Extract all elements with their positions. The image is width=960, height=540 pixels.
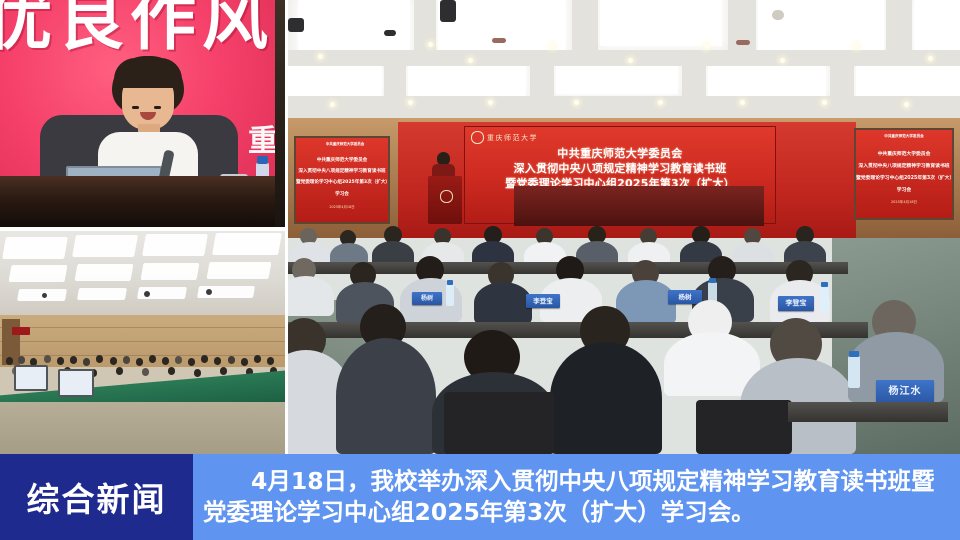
side-left-line4: 学习会 xyxy=(335,192,349,197)
photo-wide-auditorium xyxy=(0,231,285,454)
university-logo-text: 重庆师范大学 xyxy=(487,133,538,143)
university-logo: 重庆师范大学 xyxy=(471,131,538,144)
side-wall-strip xyxy=(275,0,285,227)
desk-row-near xyxy=(788,402,948,422)
side-screen-left: 中共重庆师范大学委员会 中共重庆师范大学委员会 深入贯彻中央八项规定精神学习教育… xyxy=(294,136,390,224)
caption-bar: 综合新闻 4月18日，我校举办深入贯彻中央八项规定精神学习教育读书班暨党委理论学… xyxy=(0,454,960,540)
side-right-line4: 学习会 xyxy=(897,188,911,193)
desk-nameplate: 杨树 xyxy=(668,290,702,304)
hall-floor xyxy=(0,402,285,454)
photo-seam-horizontal xyxy=(0,227,285,231)
desk-monitor xyxy=(58,369,94,397)
podium-emblem-icon xyxy=(440,190,453,203)
category-tag: 综合新闻 xyxy=(0,454,193,540)
speaker-eye-left xyxy=(132,106,139,109)
desk-nameplate: 李登宝 xyxy=(526,294,560,308)
side-left-line3: 暨党委理论学习中心组2025年第3次（扩大） xyxy=(296,180,390,185)
photo-speaker-at-podium: 优良作风 重 xyxy=(0,0,285,227)
photo-seam-vertical xyxy=(285,0,288,454)
side-left-line2: 深入贯彻中央八项规定精神学习教育读书班 xyxy=(298,169,385,174)
desk-nameplate: 李登宝 xyxy=(778,296,814,311)
water-bottle xyxy=(820,286,829,312)
water-bottle xyxy=(848,356,860,388)
water-bottle-cap xyxy=(257,156,268,164)
speaker-fringe xyxy=(114,58,182,88)
side-left-date: 2025年4月18日 xyxy=(329,205,354,209)
photo-main-conference-hall: 重庆师范大学 中共重庆师范大学委员会 深入贯彻中央八项规定精神学习教育读书班 暨… xyxy=(288,0,960,454)
hall-ceiling xyxy=(0,231,285,317)
exit-sign xyxy=(12,327,30,335)
ceiling-camera xyxy=(288,18,304,32)
side-left-logo: 中共重庆师范大学委员会 xyxy=(326,142,365,146)
speaker-figure xyxy=(104,56,192,176)
side-left-line1: 中共重庆师范大学委员会 xyxy=(317,158,368,163)
ceiling-vent xyxy=(736,40,750,45)
water-bottle-cap xyxy=(849,351,859,357)
desk-monitor xyxy=(14,365,48,391)
caption-body: 4月18日，我校举办深入贯彻中央八项规定精神学习教育读书班暨党委理论学习中心组2… xyxy=(193,454,960,540)
water-bottle xyxy=(446,284,454,306)
water-bottle-cap xyxy=(709,278,716,283)
chair-back xyxy=(444,392,554,454)
screen-line-1: 中共重庆师范大学委员会 xyxy=(465,145,775,161)
ceiling-camera xyxy=(440,0,456,22)
backdrop-headline: 优良作风 xyxy=(0,0,274,52)
main-ceiling xyxy=(288,0,960,122)
side-right-logo: 中共重庆师范大学委员会 xyxy=(884,134,924,138)
desk-nameplate: 杨江水 xyxy=(876,380,934,404)
caption-text: 4月18日，我校举办深入贯彻中央八项规定精神学习教育读书班暨党委理论学习中心组2… xyxy=(193,466,960,528)
desk-nameplate: 杨树 xyxy=(412,292,442,305)
category-tag-label: 综合新闻 xyxy=(27,473,167,521)
university-emblem-icon xyxy=(471,131,484,144)
side-screen-right: 中共重庆师范大学委员会 中共重庆师范大学委员会 深入贯彻中央八项规定精神学习教育… xyxy=(854,128,954,220)
news-photo-card: 优良作风 重 xyxy=(0,0,960,540)
water-bottle-cap xyxy=(821,282,828,287)
photo-collage: 优良作风 重 xyxy=(0,0,960,454)
side-right-line3: 暨党委理论学习中心组2025年第3次（扩大） xyxy=(856,176,954,181)
side-right-line2: 深入贯彻中央八项规定精神学习教育读书班 xyxy=(858,164,949,169)
ceiling-vent xyxy=(492,38,506,43)
head-table xyxy=(0,176,285,227)
chair-back xyxy=(696,400,792,454)
speaker-eye-right xyxy=(154,106,161,109)
ceiling-speaker-icon xyxy=(384,30,396,36)
water-bottle-cap xyxy=(447,280,453,285)
ceiling-sprinkler xyxy=(772,10,784,20)
side-right-line1: 中共重庆师范大学委员会 xyxy=(878,152,931,157)
stage-head-table xyxy=(514,186,764,226)
screen-line-2: 深入贯彻中央八项规定精神学习教育读书班 xyxy=(465,160,775,176)
side-right-date: 2025年4月18日 xyxy=(891,200,917,204)
